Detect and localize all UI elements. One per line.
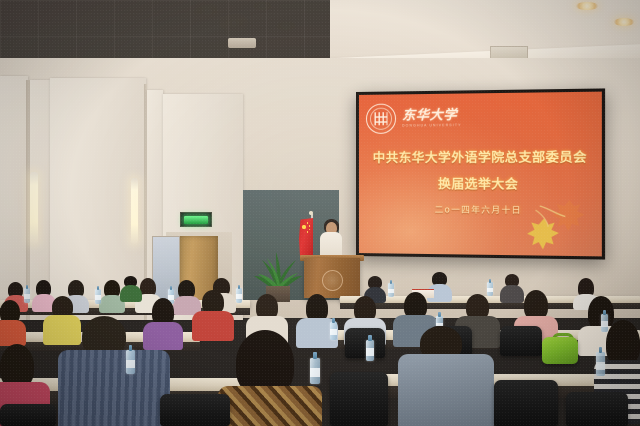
- water-bottle: [126, 350, 135, 374]
- downlight: [614, 18, 634, 26]
- water-bottle: [236, 288, 242, 303]
- water-bottle: [24, 288, 30, 303]
- university-wordmark: 东华大学 DONGHUA UNIVERSITY: [402, 109, 461, 128]
- exit-sign-face: [184, 216, 208, 224]
- water-bottle: [366, 340, 374, 361]
- water-bottle: [487, 282, 493, 296]
- chinese-national-flag: [299, 218, 313, 260]
- downlight: [576, 2, 598, 10]
- slide-logo-block: 东华大学 DONGHUA UNIVERSITY: [366, 99, 594, 136]
- green-backpack: [542, 337, 578, 364]
- water-bottle: [388, 283, 394, 297]
- water-bottle: [95, 289, 101, 304]
- podium-university-seal-icon: [322, 270, 343, 291]
- emblem-mark: [374, 112, 387, 125]
- exit-sign-icon: [180, 212, 212, 227]
- conference-hall-photo: 东华大学 DONGHUA UNIVERSITY 中共东华大学外语学院总支部委员会…: [0, 0, 640, 426]
- ceiling-speaker: [228, 38, 256, 48]
- stacking-chair[interactable]: [160, 394, 230, 426]
- stacking-chair[interactable]: [566, 392, 628, 426]
- donghua-university-logo-icon: [366, 104, 396, 134]
- water-bottle: [601, 314, 608, 332]
- university-wordmark-chinese: 东华大学: [402, 109, 461, 123]
- wall-sconce: [30, 172, 38, 244]
- slide-title-line-2: 换届选举大会: [359, 173, 602, 193]
- university-wordmark-english: DONGHUA UNIVERSITY: [402, 124, 461, 128]
- slide-title-line-1: 中共东华大学外语学院总支部委员会: [359, 146, 602, 166]
- stacking-chair[interactable]: [0, 404, 56, 426]
- stacking-chair[interactable]: [500, 326, 542, 356]
- projection-screen-surface: 东华大学 DONGHUA UNIVERSITY 中共东华大学外语学院总支部委员会…: [359, 92, 602, 257]
- water-bottle: [330, 322, 337, 340]
- stacking-chair[interactable]: [494, 380, 558, 426]
- wall-sconce: [131, 178, 138, 244]
- flagpole-finial: [309, 211, 313, 215]
- stacking-chair[interactable]: [330, 372, 388, 426]
- door-sidelight-window: [152, 236, 180, 300]
- maple-leaf-icon: [512, 191, 593, 250]
- water-bottle: [310, 358, 320, 384]
- stacking-chair[interactable]: [345, 328, 385, 358]
- water-bottle: [596, 352, 605, 376]
- projection-screen: 东华大学 DONGHUA UNIVERSITY 中共东华大学外语学院总支部委员会…: [356, 88, 605, 259]
